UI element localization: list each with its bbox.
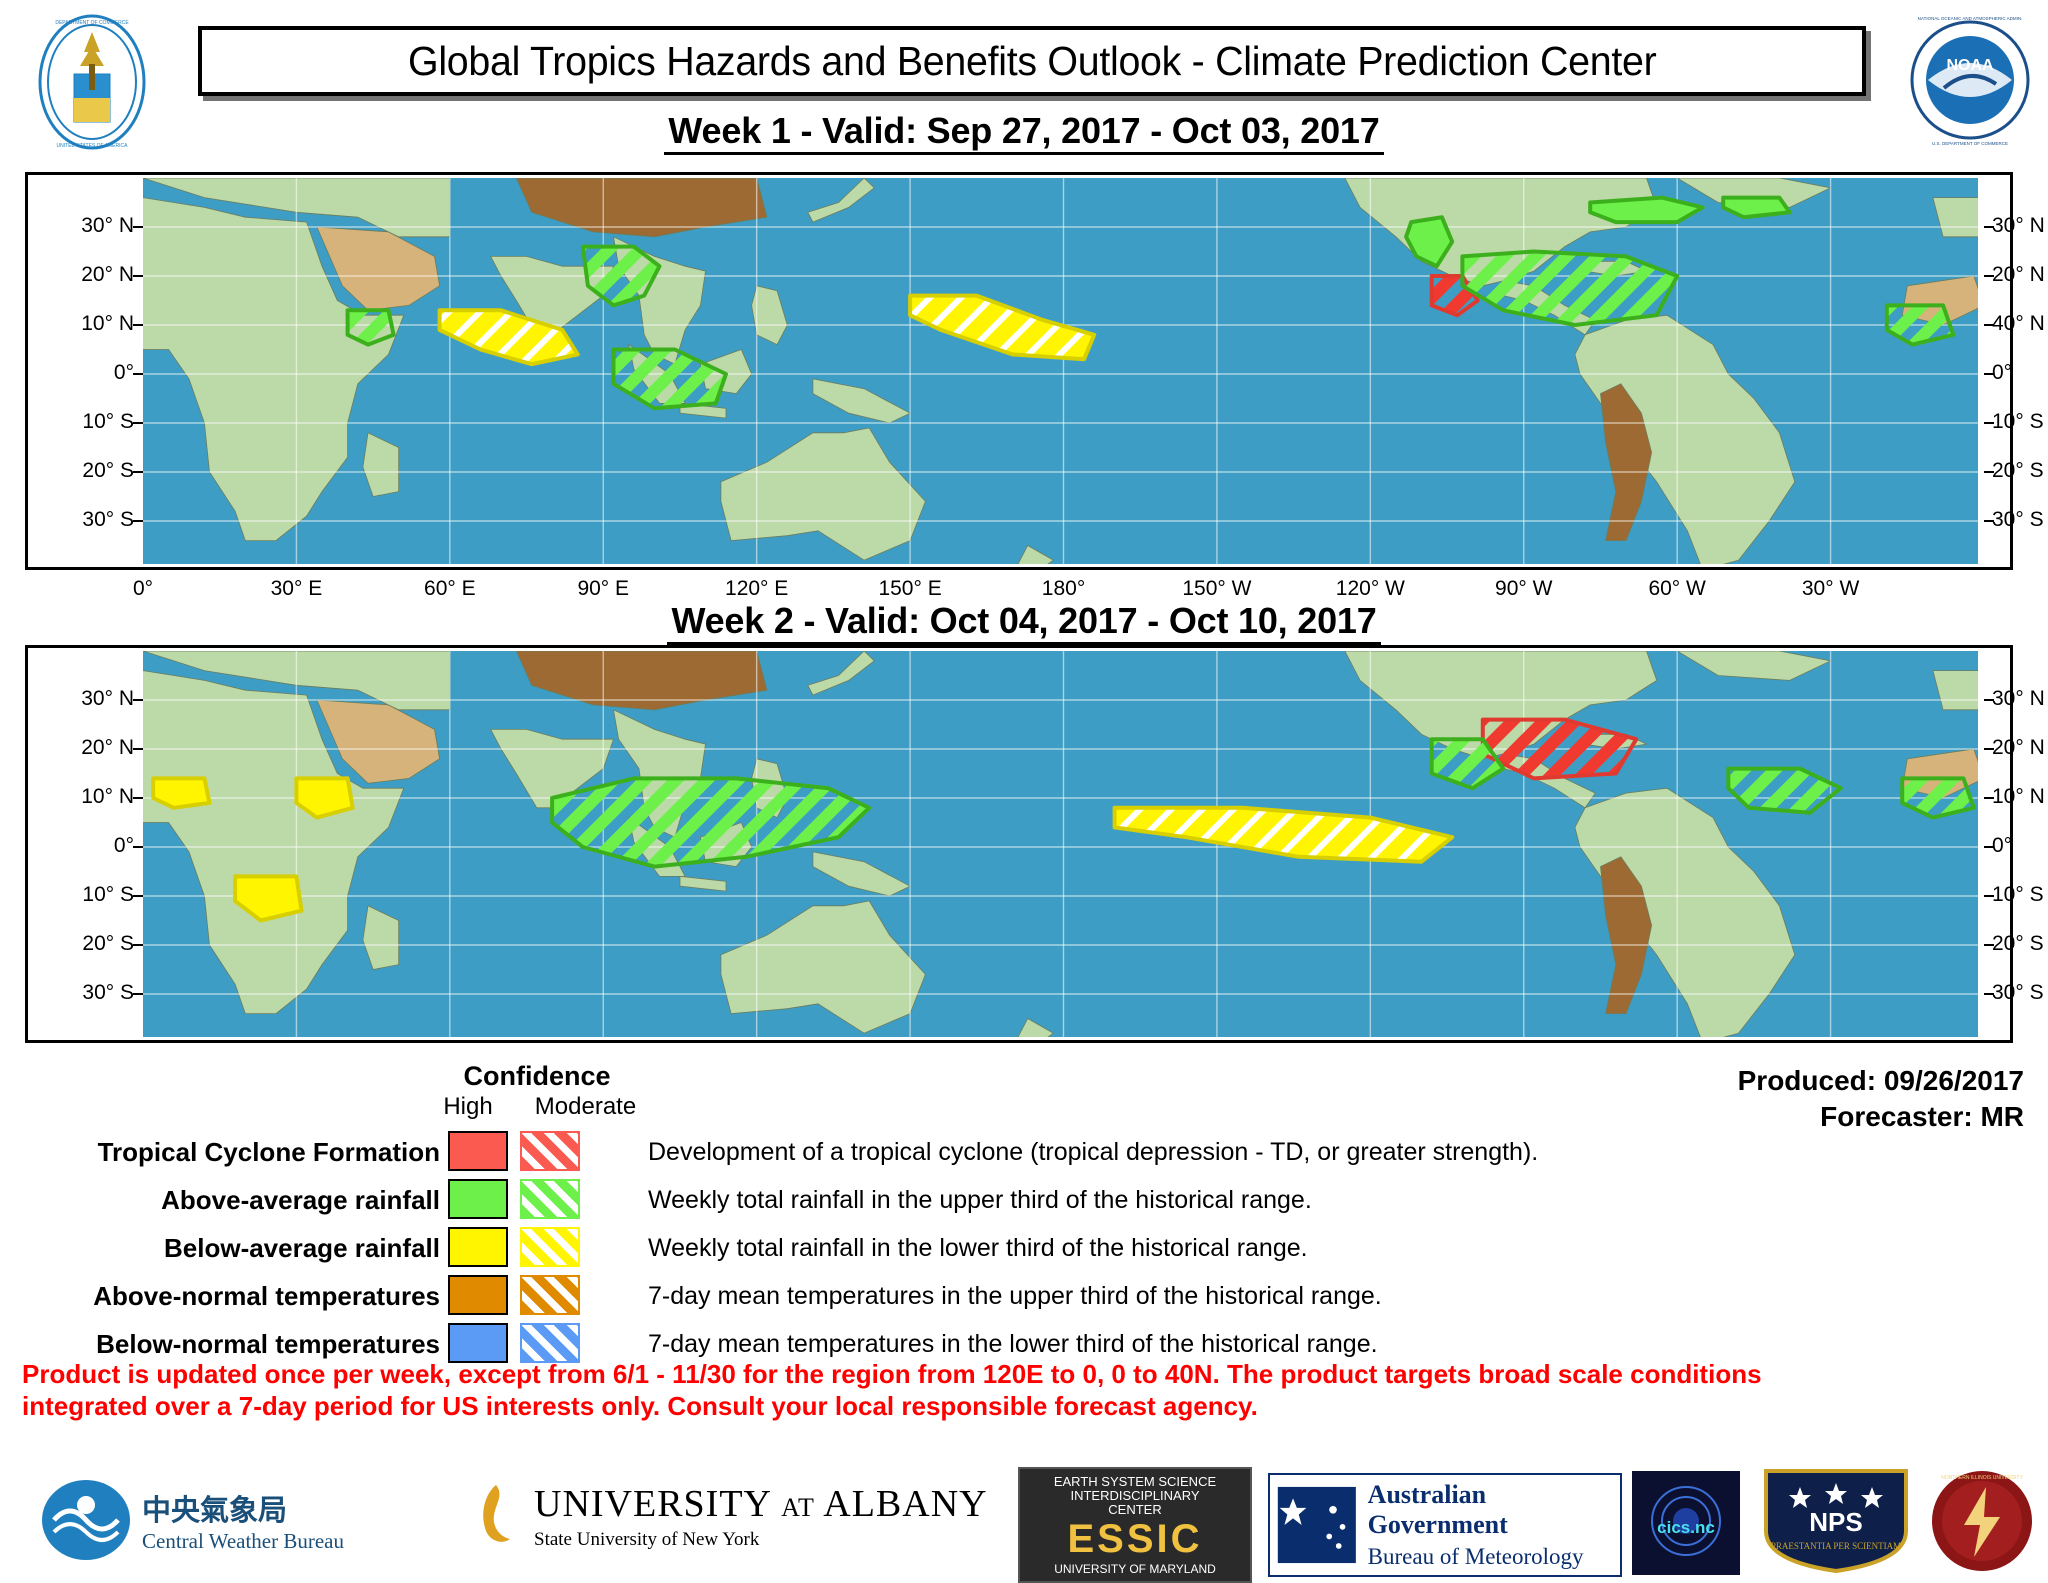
landmass [992, 546, 1053, 565]
svg-text:NATIONAL OCEANIC AND ATMOSPHER: NATIONAL OCEANIC AND ATMOSPHERIC ADMIN. [1918, 16, 2023, 21]
latitude-label-left: 10° S [34, 883, 134, 907]
landmass [808, 178, 875, 222]
legend-row-label: Above-average rainfall [0, 1179, 440, 1221]
longitude-label: 180° [1042, 577, 1085, 601]
longitude-label: 120° W [1336, 577, 1405, 601]
australian-bureau-of-meteorology-logo: Australian Government Bureau of Meteorol… [1268, 1473, 1622, 1577]
latitude-tick [1984, 471, 1994, 473]
latitude-tick [1984, 748, 1994, 750]
legend-swatch-moderate [520, 1179, 580, 1219]
svg-text:DEPARTMENT OF COMMERCE: DEPARTMENT OF COMMERCE [55, 20, 129, 26]
latitude-label-left: 0° [34, 834, 134, 858]
hazard-area[interactable] [1462, 252, 1677, 326]
latitude-label-left: 0° [34, 361, 134, 385]
latitude-label-left: 10° N [34, 785, 134, 809]
legend-swatch-moderate [520, 1131, 580, 1171]
svg-text:cics.nc: cics.nc [1657, 1518, 1715, 1537]
essic-line3: CENTER [1054, 1503, 1216, 1517]
essic-logo: EARTH SYSTEM SCIENCE INTERDISCIPLINARY C… [1018, 1467, 1252, 1583]
legend-row: Below-average rainfallWeekly total rainf… [0, 1227, 2048, 1272]
latitude-tick [1984, 226, 1994, 228]
landmass [808, 651, 875, 695]
longitude-label: 90° W [1495, 577, 1552, 601]
landmass [813, 379, 910, 423]
latitude-tick [1984, 944, 1994, 946]
latitude-tick [133, 422, 143, 424]
latitude-tick [133, 275, 143, 277]
partner-logos: 中央氣象局 Central Weather Bureau UNIVERSITY … [0, 1455, 2048, 1583]
legend-row-description: Weekly total rainfall in the upper third… [648, 1179, 1312, 1221]
latitude-label-right: 0° [1992, 834, 2012, 858]
svg-text:PRAESTANTIA PER SCIENTIAM: PRAESTANTIA PER SCIENTIAM [1771, 1541, 1901, 1551]
latitude-tick [133, 471, 143, 473]
produced-date: Produced: 09/26/2017 [1738, 1063, 2024, 1099]
landmass [1933, 198, 1978, 237]
product-note-line1: Product is updated once per week, except… [22, 1358, 2032, 1390]
landmass [1677, 651, 1830, 680]
latitude-label-left: 30° N [34, 214, 134, 238]
legend-row: Tropical Cyclone FormationDevelopment of… [0, 1131, 2048, 1176]
week1-map-canvas[interactable] [143, 178, 1978, 564]
legend-row-label: Below-average rainfall [0, 1227, 440, 1269]
latitude-label-right: 30° S [1992, 508, 2044, 532]
product-note: Product is updated once per week, except… [22, 1358, 2032, 1422]
page-header: DEPARTMENT OF COMMERCE UNITED STATES OF … [0, 0, 2048, 170]
central-weather-bureau-logo: 中央氣象局 Central Weather Bureau [40, 1477, 344, 1563]
latitude-label-left: 10° S [34, 410, 134, 434]
latitude-tick [1984, 275, 1994, 277]
latitude-tick [1984, 422, 1994, 424]
latitude-tick [133, 944, 143, 946]
latitude-label-left: 10° N [34, 312, 134, 336]
latitude-tick [133, 324, 143, 326]
hazard-area[interactable] [1723, 198, 1790, 218]
legend-row: Above-normal temperatures7-day mean temp… [0, 1275, 2048, 1320]
svg-text:NOAA: NOAA [1946, 57, 1994, 74]
longitude-label: 30° E [271, 577, 323, 601]
week2-valid-header: Week 2 - Valid: Oct 04, 2017 - Oct 10, 2… [0, 600, 2048, 642]
hazard-area[interactable] [1902, 778, 1974, 817]
latitude-tick [133, 895, 143, 897]
landmass [516, 651, 767, 710]
albany-line2: State University of New York [534, 1529, 988, 1551]
latitude-label-right: 30° N [1992, 214, 2045, 238]
albany-line1b: AT [781, 1493, 815, 1522]
nps-logo: NPS PRAESTANTIA PER SCIENTIAM [1758, 1465, 1914, 1575]
legend-row-description: Development of a tropical cyclone (tropi… [648, 1131, 1538, 1173]
latitude-label-right: 30° N [1992, 687, 2045, 711]
essic-line1: EARTH SYSTEM SCIENCE [1054, 1475, 1216, 1489]
essic-line4: UNIVERSITY OF MARYLAND [1054, 1562, 1216, 1576]
longitude-label: 30° W [1802, 577, 1859, 601]
landmass [813, 852, 910, 896]
legend-swatch-high [448, 1179, 508, 1219]
longitude-label: 150° E [878, 577, 941, 601]
latitude-label-left: 30° N [34, 687, 134, 711]
latitude-tick [1984, 324, 1994, 326]
latitude-tick [133, 993, 143, 995]
legend-swatch-high [448, 1323, 508, 1363]
svg-text:NPS: NPS [1809, 1507, 1862, 1537]
week1-valid-text: Week 1 - Valid: Sep 27, 2017 - Oct 03, 2… [664, 110, 1383, 155]
landmass [680, 876, 726, 891]
latitude-tick [1984, 520, 1994, 522]
legend-row-description: Weekly total rainfall in the lower third… [648, 1227, 1308, 1269]
landmass [1933, 671, 1978, 710]
legend-swatch-high [448, 1275, 508, 1315]
svg-text:NORTHERN ILLINOIS UNIVERSITY: NORTHERN ILLINOIS UNIVERSITY [1941, 1475, 2023, 1481]
latitude-label-right: 10° S [1992, 883, 2044, 907]
essic-acronym: ESSIC [1067, 1517, 1202, 1562]
longitude-label: 60° E [424, 577, 476, 601]
legend: Confidence High Moderate Produced: 09/26… [0, 1055, 2048, 1355]
latitude-label-right: 10° S [1992, 410, 2044, 434]
latitude-tick [1984, 895, 1994, 897]
hazard-area[interactable] [614, 350, 727, 409]
bom-line1: Australian Government [1368, 1480, 1620, 1540]
latitude-tick [133, 373, 143, 375]
latitude-label-right: 20° N [1992, 736, 2045, 760]
latitude-tick [133, 520, 143, 522]
page-title-box: Global Tropics Hazards and Benefits Outl… [198, 26, 1866, 96]
week2-map-canvas[interactable] [143, 651, 1978, 1037]
cwb-name-cn: 中央氣象局 [142, 1487, 344, 1529]
cicsnc-logo: cics.nc [1632, 1471, 1740, 1575]
latitude-label-right: 40° N [1992, 312, 2045, 336]
week2-valid-text: Week 2 - Valid: Oct 04, 2017 - Oct 10, 2… [667, 600, 1380, 645]
latitude-tick [1984, 993, 1994, 995]
hazard-area[interactable] [153, 778, 209, 807]
hazard-area[interactable] [910, 296, 1094, 360]
product-note-line2: integrated over a 7-day period for US in… [22, 1390, 2032, 1422]
hazard-area[interactable] [1590, 198, 1703, 223]
latitude-label-left: 30° S [34, 981, 134, 1005]
latitude-label-left: 20° N [34, 736, 134, 760]
legend-row-label: Above-normal temperatures [0, 1275, 440, 1317]
forecaster-name: Forecaster: MR [1738, 1099, 2024, 1135]
hazard-area[interactable] [1728, 769, 1841, 813]
latitude-label-left: 20° S [34, 932, 134, 956]
page-title: Global Tropics Hazards and Benefits Outl… [408, 38, 1656, 85]
latitude-tick [1984, 797, 1994, 799]
legend-row-label: Tropical Cyclone Formation [0, 1131, 440, 1173]
longitude-label: 60° W [1648, 577, 1705, 601]
landmass [721, 428, 926, 560]
albany-line1c: ALBANY [823, 1483, 987, 1525]
latitude-tick [133, 797, 143, 799]
latitude-label-right: 30° S [1992, 981, 2044, 1005]
latitude-label-right: 20° S [1992, 459, 2044, 483]
confidence-moderate-label: Moderate [513, 1093, 658, 1121]
legend-row-description: 7-day mean temperatures in the upper thi… [648, 1275, 1382, 1317]
cwb-name-en: Central Weather Bureau [142, 1529, 344, 1554]
production-info: Produced: 09/26/2017 Forecaster: MR [1738, 1063, 2024, 1135]
latitude-label-right: 10° N [1992, 785, 2045, 809]
albany-line1: UNIVERSITY [534, 1483, 771, 1525]
hazard-area[interactable] [348, 310, 394, 344]
niu-logo: NORTHERN ILLINOIS UNIVERSITY [1930, 1469, 2034, 1573]
latitude-label-left: 20° S [34, 459, 134, 483]
longitude-label: 0° [133, 577, 153, 601]
landmass [363, 433, 399, 497]
latitude-tick [133, 846, 143, 848]
confidence-title: Confidence [437, 1061, 637, 1092]
latitude-label-right: 20° N [1992, 263, 2045, 287]
essic-line2: INTERDISCIPLINARY [1054, 1489, 1216, 1503]
latitude-tick [1984, 846, 1994, 848]
longitude-label: 120° E [725, 577, 788, 601]
legend-swatch-moderate [520, 1275, 580, 1315]
latitude-tick [133, 748, 143, 750]
latitude-tick [1984, 699, 1994, 701]
longitude-label: 150° W [1182, 577, 1251, 601]
week2-map-panel[interactable]: 30° N30° N20° N20° N10° N10° N0°0°10° S1… [25, 645, 2013, 1043]
landmass [992, 1019, 1053, 1038]
legend-swatch-moderate [520, 1323, 580, 1363]
week1-valid-header: Week 1 - Valid: Sep 27, 2017 - Oct 03, 2… [0, 110, 2048, 152]
latitude-label-right: 20° S [1992, 932, 2044, 956]
landmass [363, 906, 399, 970]
legend-swatch-high [448, 1227, 508, 1267]
week1-map-panel[interactable]: 30° N30° N20° N20° N10° N40° N0°0°10° S1… [25, 172, 2013, 570]
landmass [516, 178, 767, 237]
bom-line2: Bureau of Meteorology [1368, 1544, 1620, 1570]
longitude-label: 90° E [577, 577, 629, 601]
latitude-label-left: 20° N [34, 263, 134, 287]
legend-swatch-moderate [520, 1227, 580, 1267]
latitude-tick [133, 699, 143, 701]
latitude-label-right: 0° [1992, 361, 2012, 385]
university-at-albany-logo: UNIVERSITY AT ALBANY State University of… [470, 1481, 988, 1551]
legend-row: Above-average rainfallWeekly total rainf… [0, 1179, 2048, 1224]
confidence-high-label: High [425, 1093, 511, 1121]
hazard-area[interactable] [1887, 305, 1954, 344]
landmass [721, 901, 926, 1033]
legend-swatch-high [448, 1131, 508, 1171]
latitude-label-left: 30° S [34, 508, 134, 532]
latitude-tick [133, 226, 143, 228]
hazard-area[interactable] [1115, 808, 1453, 862]
latitude-tick [1984, 373, 1994, 375]
